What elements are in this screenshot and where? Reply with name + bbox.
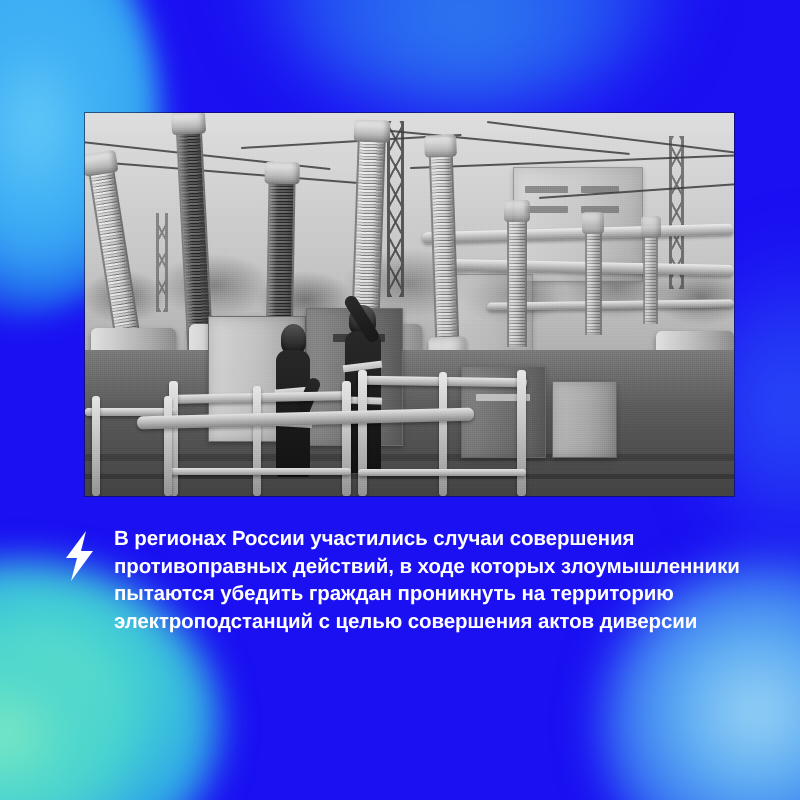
background-blob-top-center: [250, 0, 680, 110]
caption-block: В регионах России участились случаи сове…: [62, 525, 752, 635]
substation-photo: [85, 113, 734, 496]
caption-text: В регионах России участились случаи сове…: [114, 525, 752, 635]
photo-grain-overlay: [85, 113, 734, 496]
info-banner-card: В регионах России участились случаи сове…: [0, 0, 800, 800]
background-blob-bottom-left-inner: [0, 640, 130, 800]
lightning-bolt-icon: [62, 531, 96, 581]
substation-photo-image: [85, 113, 734, 496]
